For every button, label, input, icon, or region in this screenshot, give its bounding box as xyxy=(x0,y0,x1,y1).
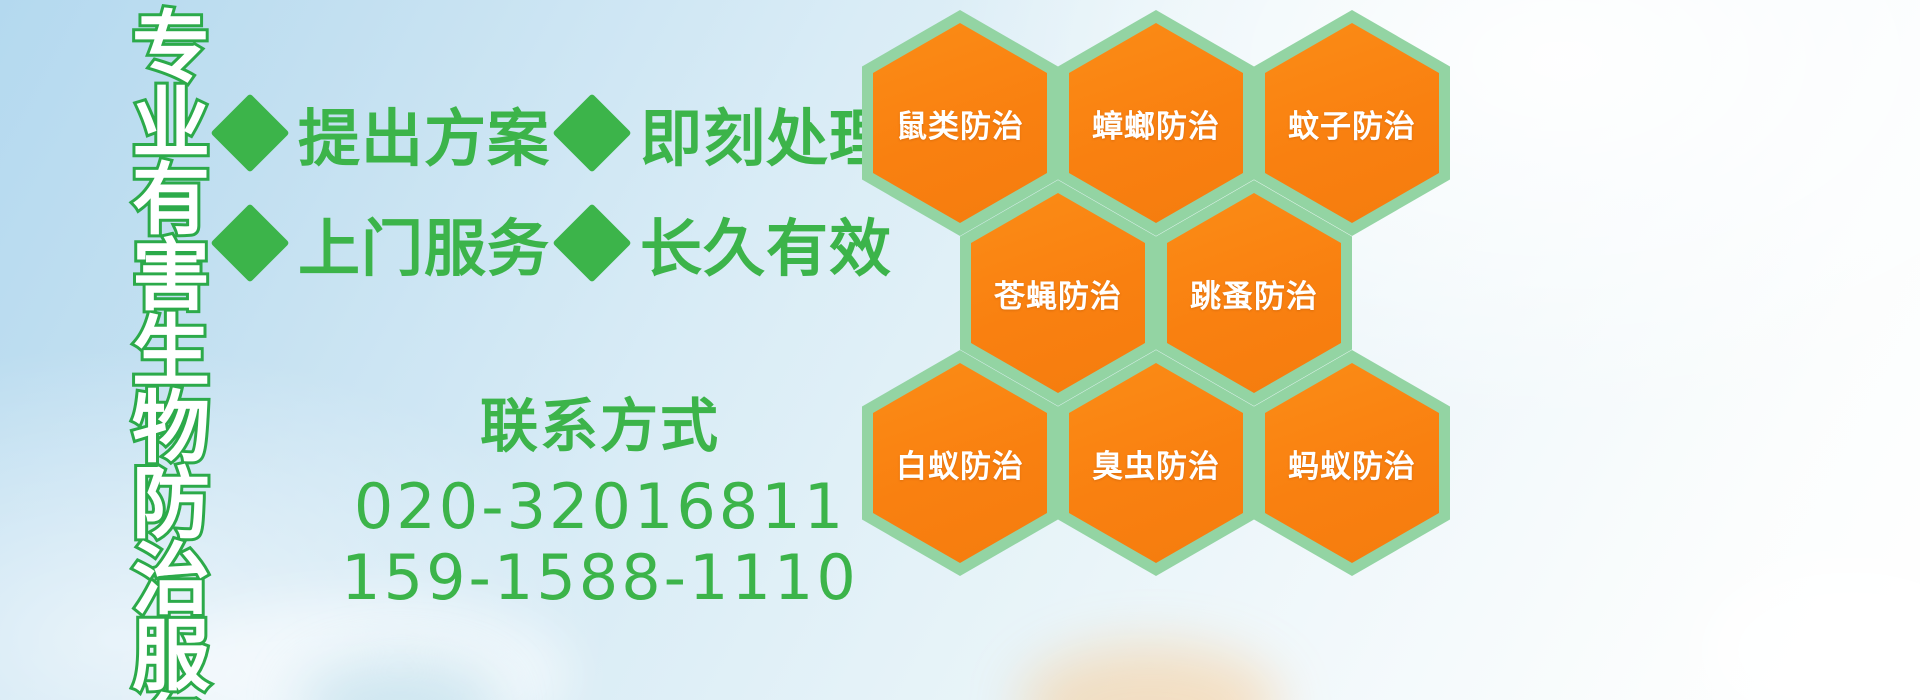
service-hex-termite[interactable]: 白蚁防治 xyxy=(862,350,1058,576)
feature-item: 长久有效 xyxy=(564,198,892,288)
feature-row: 上门服务 长久有效 xyxy=(222,188,882,298)
service-label: 臭虫防治 xyxy=(1058,350,1254,576)
service-label: 白蚁防治 xyxy=(862,350,1058,576)
feature-label: 即刻处理 xyxy=(640,88,892,178)
background-blur-blob xyxy=(150,600,570,700)
background-blur-blob xyxy=(1700,560,1920,700)
feature-item: 提出方案 xyxy=(222,88,550,178)
service-hex-bedbug[interactable]: 臭虫防治 xyxy=(1058,350,1254,576)
diamond-icon xyxy=(552,93,631,172)
feature-label: 长久有效 xyxy=(640,198,892,288)
feature-label: 提出方案 xyxy=(298,88,550,178)
vertical-headline: 专业有害生物防治服务 xyxy=(104,6,200,696)
service-honeycomb: 鼠类防治 蟑螂防治 蚊子防治 苍蝇防治 跳蚤防治 白蚁防治 xyxy=(862,10,1462,570)
background-blur-blob xyxy=(1020,645,1280,700)
contact-label: 联系方式 xyxy=(320,396,880,457)
background-blur-blob xyxy=(300,660,500,700)
diamond-icon xyxy=(210,203,289,282)
service-hex-ant[interactable]: 蚂蚁防治 xyxy=(1254,350,1450,576)
contact-block: 联系方式 020-32016811 159-1588-1110 xyxy=(320,396,880,613)
feature-label: 上门服务 xyxy=(298,198,550,288)
feature-item: 即刻处理 xyxy=(564,88,892,178)
diamond-icon xyxy=(210,93,289,172)
promo-banner: 专业有害生物防治服务 提出方案 即刻处理 上门服务 长久有效 联系方式 xyxy=(0,0,1920,700)
feature-item: 上门服务 xyxy=(222,198,550,288)
phone-number-mobile[interactable]: 159-1588-1110 xyxy=(320,542,880,613)
phone-number-landline[interactable]: 020-32016811 xyxy=(320,471,880,542)
feature-list: 提出方案 即刻处理 上门服务 长久有效 xyxy=(222,78,882,298)
diamond-icon xyxy=(552,203,631,282)
feature-row: 提出方案 即刻处理 xyxy=(222,78,882,188)
service-label: 蚂蚁防治 xyxy=(1254,350,1450,576)
